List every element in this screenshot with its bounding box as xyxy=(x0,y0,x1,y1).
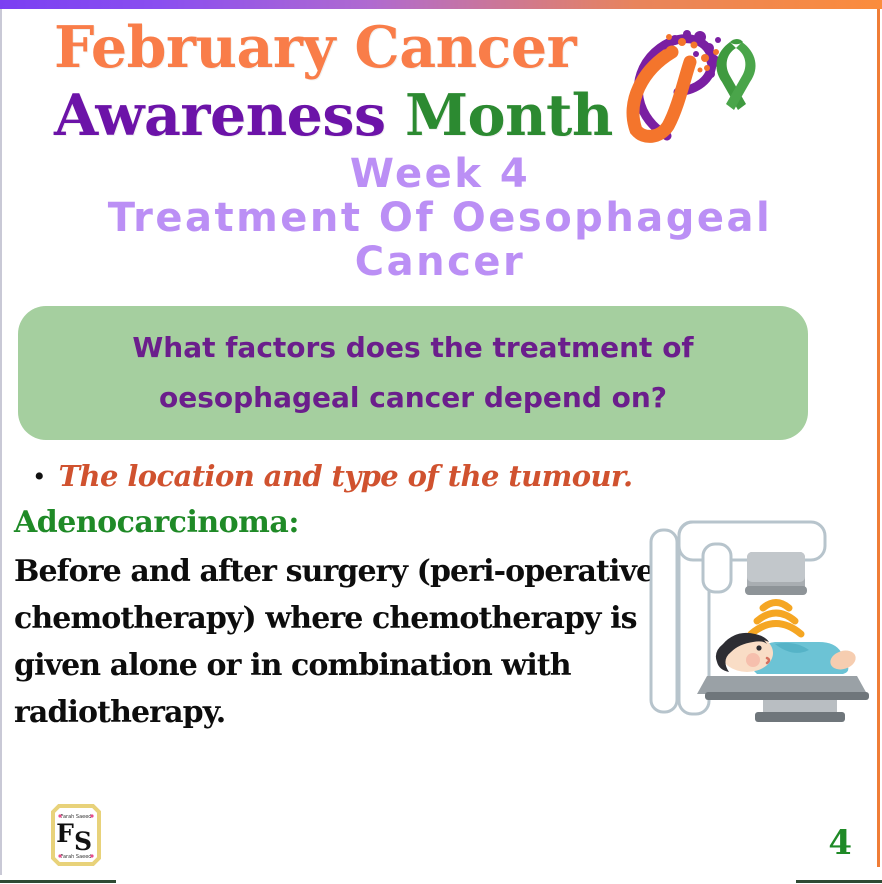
masthead: February Cancer Awareness Month xyxy=(0,12,882,154)
masthead-awareness: Awareness xyxy=(54,82,405,149)
body-paragraph: Before and after surgery (peri-operative… xyxy=(14,548,662,736)
bullet-list-item: • The location and type of the tumour. xyxy=(34,456,734,497)
masthead-month: Month xyxy=(405,82,613,149)
svg-text:S: S xyxy=(74,827,92,856)
bottom-rule-left xyxy=(0,880,116,883)
radiotherapy-machine-illustration xyxy=(645,508,877,724)
masthead-february-cancer: February Cancer xyxy=(54,14,576,81)
question-banner: What factors does the treatment of oesop… xyxy=(18,306,808,440)
svg-text:Farah Saeed: Farah Saeed xyxy=(61,854,92,860)
bullet-dot-icon: • xyxy=(34,457,45,497)
svg-text:F: F xyxy=(56,819,74,848)
masthead-line-2: Awareness Month xyxy=(54,82,614,150)
masthead-line-1: February Cancer xyxy=(54,14,614,82)
bullet-item-label: The location and type of the tumour. xyxy=(59,456,633,496)
question-text: What factors does the treatment of oesop… xyxy=(62,323,764,423)
subtitle-topic: Treatment Of Oesophageal Cancer xyxy=(40,196,840,284)
farah-saeed-logo: Farah Saeed F S Farah Saeed xyxy=(47,804,105,866)
week-subtitle: Week 4 Treatment Of Oesophageal Cancer xyxy=(40,152,840,284)
top-gradient-bar xyxy=(0,0,882,9)
page-number: 4 xyxy=(828,824,852,862)
cancer-ribbons-icon xyxy=(612,18,762,148)
section-subheading: Adenocarcinoma: xyxy=(14,503,299,543)
subtitle-week: Week 4 xyxy=(40,152,840,196)
slide-canvas: February Cancer Awareness Month xyxy=(0,0,882,884)
bottom-rule-right xyxy=(796,880,882,883)
masthead-title: February Cancer Awareness Month xyxy=(54,14,614,150)
